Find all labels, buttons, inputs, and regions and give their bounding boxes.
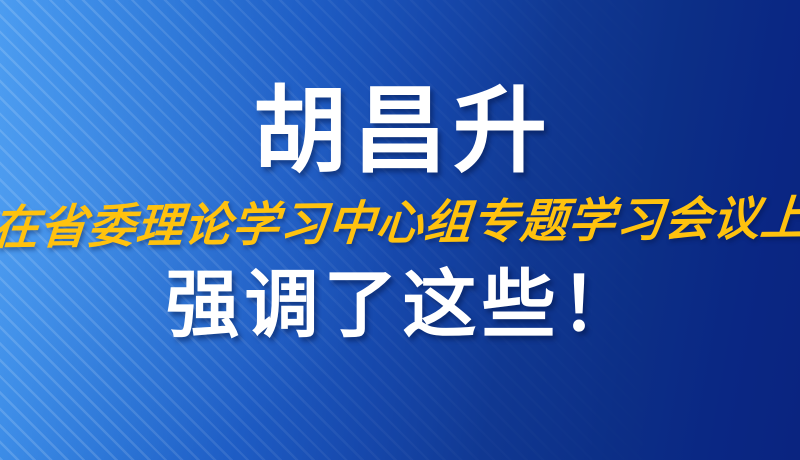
banner-content: 胡昌升 在省委理论学习中心组专题学习会议上 强调了这些！ [0, 0, 800, 460]
occasion-subtitle: 在省委理论学习中心组专题学习会议上 [0, 193, 800, 256]
person-name-heading: 胡昌升 [247, 82, 553, 180]
emphasis-heading: 强调了这些！ [161, 266, 640, 344]
promo-banner: 胡昌升 在省委理论学习中心组专题学习会议上 强调了这些！ [0, 0, 800, 460]
